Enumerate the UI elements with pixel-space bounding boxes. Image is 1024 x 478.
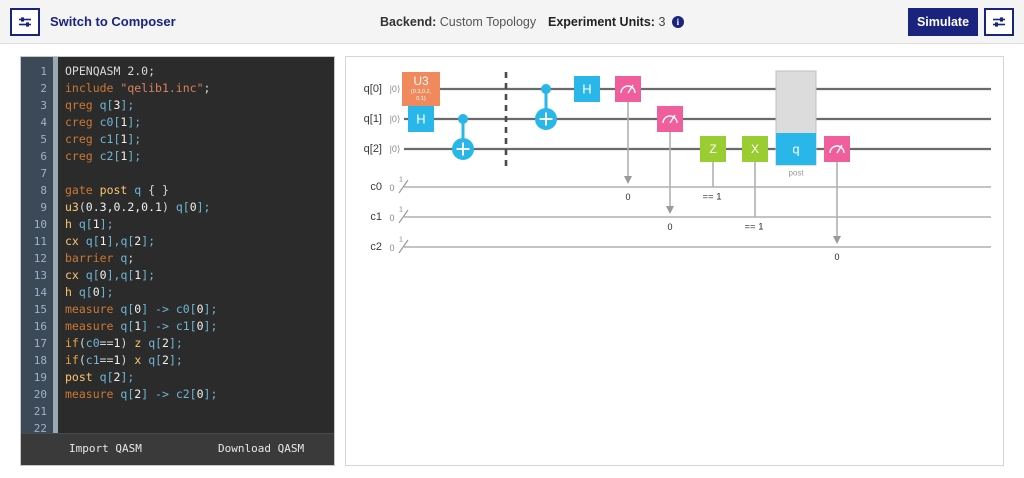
code-line: 10h q[1]; <box>21 216 335 233</box>
code-line: 13cx q[0],q[1]; <box>21 267 335 284</box>
line-source: creg c1[1]; <box>65 131 141 148</box>
units-value: 3 <box>658 15 665 29</box>
top-toolbar: Switch to Composer Backend: Custom Topol… <box>0 0 1024 44</box>
line-source: measure q[0] -> c0[0]; <box>65 301 217 318</box>
backend-value: Custom Topology <box>440 15 536 29</box>
line-source: u3(0.3,0.2,0.1) q[0]; <box>65 199 210 216</box>
clbit-value: 0 <box>389 183 394 193</box>
code-line: 3qreg q[3]; <box>21 97 335 114</box>
x-gate-q2-condition: == 1 <box>744 222 763 233</box>
code-line: 2include "qelib1.inc"; <box>21 80 335 97</box>
qubit-state-label: |0⟩ <box>390 114 401 124</box>
circuit-svg: q[0]|0⟩q[1]|0⟩q[2]|0⟩c001c101c201U3(0.3,… <box>346 57 1003 465</box>
line-source: measure q[2] -> c2[0]; <box>65 386 217 403</box>
experiment-units-info: Experiment Units: 3 i <box>548 15 684 29</box>
import-qasm-button[interactable]: Import QASM <box>69 442 142 455</box>
code-line: 19post q[2]; <box>21 369 335 386</box>
line-source: cx q[1],q[2]; <box>65 233 155 250</box>
line-source: gate post q { } <box>65 182 169 199</box>
clbit-label: c0 <box>370 181 382 193</box>
composer-toggle-button[interactable] <box>10 8 40 36</box>
cx-q1-q2-control[interactable] <box>458 114 468 124</box>
clbit-value: 0 <box>389 213 394 223</box>
measure-q1-c1[interactable] <box>657 106 683 132</box>
download-qasm-button[interactable]: Download QASM <box>218 442 304 455</box>
line-number: 10 <box>21 216 47 233</box>
line-source: cx q[0],q[1]; <box>65 267 155 284</box>
u3-gate-params-1: (0.3,0.2, <box>411 89 432 95</box>
simulate-button[interactable]: Simulate <box>908 8 978 36</box>
qubit-label: q[0] <box>364 83 382 95</box>
code-line: 5creg c1[1]; <box>21 131 335 148</box>
line-number: 14 <box>21 284 47 301</box>
line-number: 19 <box>21 369 47 386</box>
measure-q0-c0-value: 0 <box>625 192 630 202</box>
measure-q1-c1-arrow <box>666 206 674 214</box>
line-source: creg c2[1]; <box>65 148 141 165</box>
code-line: 9u3(0.3,0.2,0.1) q[0]; <box>21 199 335 216</box>
line-number: 6 <box>21 148 47 165</box>
code-line: 16measure q[1] -> c1[0]; <box>21 318 335 335</box>
code-line: 20measure q[2] -> c2[0]; <box>21 386 335 403</box>
units-label: Experiment Units: <box>548 15 655 29</box>
qubit-state-label: |0⟩ <box>390 84 401 94</box>
z-gate-q2-condition: == 1 <box>702 192 721 203</box>
code-line: 1OPENQASM 2.0; <box>21 63 335 80</box>
line-number: 5 <box>21 131 47 148</box>
code-line: 11cx q[1],q[2]; <box>21 233 335 250</box>
cx-q0-q1-control[interactable] <box>541 84 551 94</box>
info-icon[interactable]: i <box>672 16 684 28</box>
qubit-label: q[2] <box>364 143 382 155</box>
clbit-value: 0 <box>389 243 394 253</box>
settings-button[interactable] <box>984 8 1014 36</box>
h-gate-q1-label: H <box>416 112 425 127</box>
code-line: 6creg c2[1]; <box>21 148 335 165</box>
backend-info: Backend: Custom Topology <box>380 15 536 29</box>
line-number: 21 <box>21 403 47 420</box>
circuit-diagram-panel[interactable]: q[0]|0⟩q[1]|0⟩q[2]|0⟩c001c101c201U3(0.3,… <box>345 56 1004 466</box>
line-source: creg c0[1]; <box>65 114 141 131</box>
u3-gate-params-2: 0.1) <box>416 96 426 102</box>
line-number: 18 <box>21 352 47 369</box>
qubit-label: q[1] <box>364 113 382 125</box>
qasm-editor-panel[interactable]: 1OPENQASM 2.0;2include "qelib1.inc";3qre… <box>20 56 335 466</box>
code-line: 15measure q[0] -> c0[0]; <box>21 301 335 318</box>
measure-q0-c0[interactable] <box>615 76 641 102</box>
code-line: 8gate post q { } <box>21 182 335 199</box>
line-number: 12 <box>21 250 47 267</box>
measure-q2-c2-value: 0 <box>834 252 839 262</box>
code-line: 14h q[0]; <box>21 284 335 301</box>
qasm-code-area[interactable]: 1OPENQASM 2.0;2include "qelib1.inc";3qre… <box>21 57 335 437</box>
clbit-width-label: 1 <box>399 175 403 184</box>
switch-to-composer-link[interactable]: Switch to Composer <box>50 14 176 29</box>
measure-q2-c2[interactable] <box>824 136 850 162</box>
clbit-width-label: 1 <box>399 205 403 214</box>
code-line: 18if(c1==1) x q[2]; <box>21 352 335 369</box>
clbit-label: c2 <box>370 241 382 253</box>
measure-q1-c1-value: 0 <box>667 222 672 232</box>
line-source: include "qelib1.inc"; <box>65 80 210 97</box>
code-line: 17if(c0==1) z q[2]; <box>21 335 335 352</box>
code-line: 12barrier q; <box>21 250 335 267</box>
clbit-label: c1 <box>370 211 382 223</box>
measure-q2-c2-arrow <box>833 236 841 244</box>
editor-footer: Import QASM Download QASM <box>21 433 335 465</box>
line-source: post q[2]; <box>65 369 134 386</box>
line-number: 20 <box>21 386 47 403</box>
backend-label: Backend: <box>380 15 436 29</box>
x-gate-q2-label: X <box>751 142 759 156</box>
line-number: 17 <box>21 335 47 352</box>
line-number: 15 <box>21 301 47 318</box>
line-number: 2 <box>21 80 47 97</box>
clbit-width-label: 1 <box>399 235 403 244</box>
line-number: 8 <box>21 182 47 199</box>
qubit-state-label: |0⟩ <box>390 144 401 154</box>
line-number: 1 <box>21 63 47 80</box>
line-source: barrier q; <box>65 250 134 267</box>
line-number: 4 <box>21 114 47 131</box>
u3-gate-label: U3 <box>413 74 429 88</box>
measure-q0-c0-arrow <box>624 176 632 184</box>
line-number: 7 <box>21 165 47 182</box>
line-source: qreg q[3]; <box>65 97 134 114</box>
code-line: 4creg c0[1]; <box>21 114 335 131</box>
line-number: 3 <box>21 97 47 114</box>
sliders-icon <box>992 15 1006 29</box>
line-number: 11 <box>21 233 47 250</box>
line-source: OPENQASM 2.0; <box>65 63 155 80</box>
z-gate-q2-label: Z <box>709 142 716 156</box>
line-number: 13 <box>21 267 47 284</box>
line-source: if(c1==1) x q[2]; <box>65 352 183 369</box>
post-gate-sublabel: post <box>788 169 804 178</box>
h-gate-q0-label: H <box>582 82 591 97</box>
line-source: if(c0==1) z q[2]; <box>65 335 183 352</box>
line-number: 16 <box>21 318 47 335</box>
line-source: h q[0]; <box>65 284 114 301</box>
code-line: 21 <box>21 403 335 420</box>
line-source: h q[1]; <box>65 216 114 233</box>
line-number: 9 <box>21 199 47 216</box>
post-gate-label: q <box>792 142 799 157</box>
line-source: measure q[1] -> c1[0]; <box>65 318 217 335</box>
sliders-icon <box>18 15 32 29</box>
code-line: 7 <box>21 165 335 182</box>
